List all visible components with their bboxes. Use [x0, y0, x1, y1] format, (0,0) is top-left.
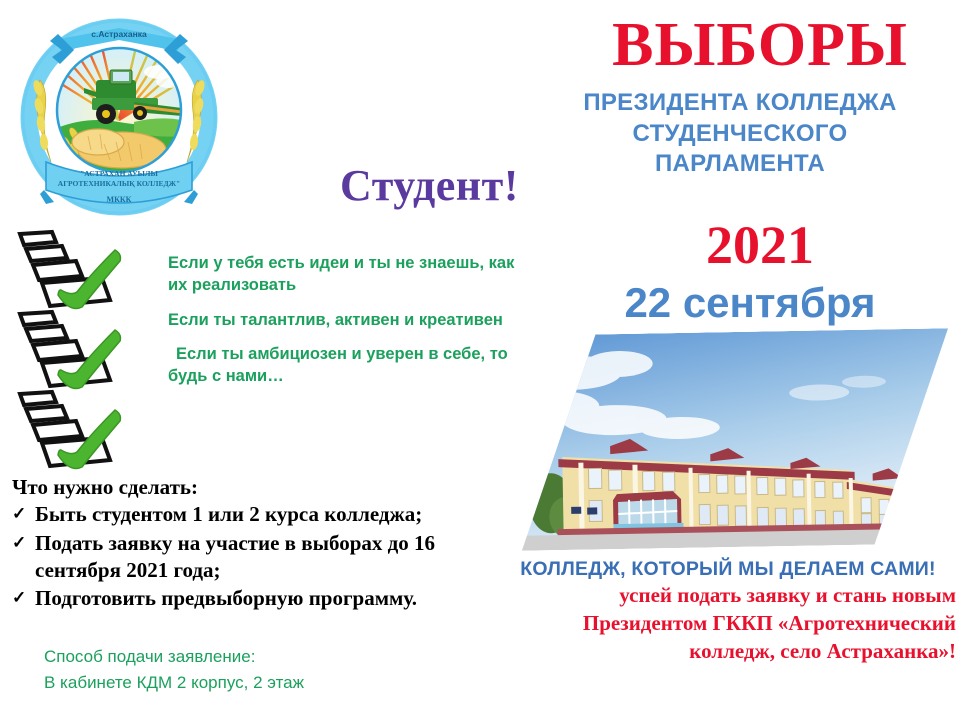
checkbox-list-graphic [6, 228, 158, 310]
building-illustration [518, 328, 952, 550]
election-year: 2021 [560, 218, 960, 272]
requirement-text: Подать заявку на участие в выборах до 16… [35, 530, 512, 585]
requirements-block: Что нужно сделать: ✓ Быть студентом 1 ил… [12, 474, 512, 612]
cta-call-to-action: успей подать заявку и стань новым Презид… [498, 582, 956, 666]
cta-slogan: КОЛЛЕДЖ, КОТОРЫЙ МЫ ДЕЛАЕМ САМИ! [500, 558, 956, 581]
check-icon: ✓ [12, 585, 27, 611]
requirement-row: ✓ Подать заявку на участие в выборах до … [12, 530, 512, 585]
slogan-list: Если у тебя есть идеи и ты не знаешь, ка… [168, 252, 528, 399]
emblem-top-label: с.Астраханка [91, 29, 147, 39]
college-building-photo [518, 328, 952, 550]
requirement-row: ✓ Подготовить предвыборную программу. [12, 585, 512, 612]
page-title: ВЫБОРЫ [560, 14, 960, 76]
college-emblem: с.Астраханка [14, 10, 224, 225]
check-icon: ✓ [12, 501, 27, 527]
requirement-text: Быть студентом 1 или 2 курса колледжа; [35, 501, 512, 528]
submission-note-line-2: В кабинете КДМ 2 корпус, 2 этаж [44, 670, 304, 696]
slogan-item: Если ты амбициозен и уверен в себе, то б… [168, 343, 528, 388]
submission-note-line-1: Способ подачи заявление: [44, 644, 304, 670]
page-subtitle: ПРЕЗИДЕНТА КОЛЛЕДЖА СТУДЕНЧЕСКОГО ПАРЛАМ… [520, 88, 960, 180]
emblem-ribbon-line2: АГРОТЕХНИКАЛЫҚ КОЛЛЕДЖ" [58, 179, 180, 188]
subtitle-line-1: ПРЕЗИДЕНТА КОЛЛЕДЖА [520, 88, 960, 119]
submission-note: Способ подачи заявление: В кабинете КДМ … [44, 644, 304, 697]
cta-line-2: Президентом ГККП «Агротехнический [498, 610, 956, 638]
emblem-ribbon-line3: МККК [107, 195, 132, 204]
cta-line-1: успей подать заявку и стань новым [498, 582, 956, 610]
slogan-item: Если ты талантлив, активен и креативен [168, 309, 528, 331]
subtitle-line-2: СТУДЕНЧЕСКОГО [520, 119, 960, 150]
election-date: 22 сентября [540, 282, 960, 324]
emblem-ribbon-line1: "АСТРАХАН АУЫЛЫ [80, 169, 158, 178]
cta-line-3: колледж, село Астраханка»! [498, 638, 956, 666]
requirement-text: Подготовить предвыборную программу. [35, 585, 512, 612]
requirement-row: ✓ Быть студентом 1 или 2 курса колледжа; [12, 501, 512, 528]
requirements-heading: Что нужно сделать: [12, 474, 512, 500]
checkbox-list-graphic [6, 388, 158, 470]
check-icon: ✓ [12, 530, 27, 556]
slogan-item: Если у тебя есть идеи и ты не знаешь, ка… [168, 252, 528, 297]
student-heading: Студент! [340, 160, 519, 211]
subtitle-line-3: ПАРЛАМЕНТА [520, 149, 960, 180]
poster-canvas: с.Астраханка [0, 0, 960, 720]
checkbox-list-graphic [6, 308, 158, 390]
